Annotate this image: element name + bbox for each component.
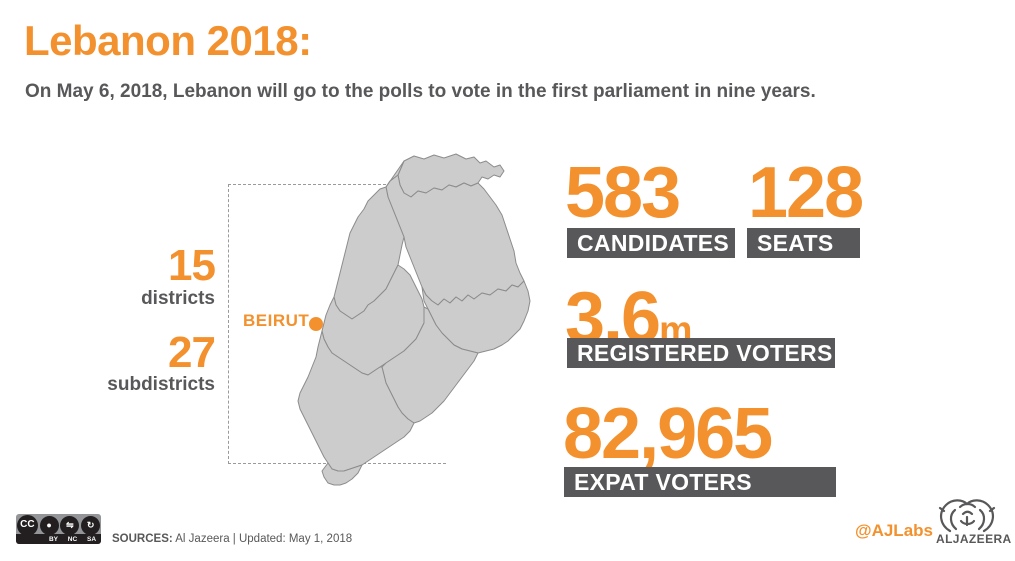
registered-voters-label: REGISTERED VOTERS — [567, 338, 835, 368]
seats-label: SEATS — [747, 228, 860, 258]
candidates-label: CANDIDATES — [567, 228, 735, 258]
expat-voters-label: EXPAT VOTERS — [564, 467, 836, 497]
subdistricts-label: subdistricts — [60, 375, 215, 396]
page-subtitle: On May 6, 2018, Lebanon will go to the p… — [25, 82, 816, 103]
beirut-marker-icon — [309, 317, 323, 331]
cc-label-row: BY NC SA — [16, 534, 101, 544]
cc-nc-icon: ⇋ — [60, 516, 79, 535]
cc-nc-label: NC — [63, 536, 82, 543]
beirut-label: BEIRUT — [243, 311, 309, 331]
sources-line: SOURCES: Al Jazeera | Updated: May 1, 20… — [112, 533, 352, 545]
cc-by-icon: ● — [40, 516, 59, 535]
page-title: Lebanon 2018: — [24, 20, 312, 62]
creative-commons-badge-icon[interactable]: CC ● ⇋ ↻ BY NC SA — [16, 514, 101, 544]
cc-by-label: BY — [44, 536, 63, 543]
cc-sa-label: SA — [82, 536, 101, 543]
sources-text: Al Jazeera | Updated: May 1, 2018 — [175, 533, 352, 545]
subdistricts-count: 27 — [60, 332, 215, 374]
expat-voters-value: 82,965 — [563, 398, 771, 470]
district-counts: 15 districts 27 subdistricts — [60, 245, 215, 396]
seats-value: 128 — [748, 157, 862, 229]
candidates-value: 583 — [565, 157, 679, 229]
cc-logo-icon: CC — [17, 515, 38, 536]
sources-label: SOURCES: — [112, 533, 173, 545]
cc-icon-row: CC ● ⇋ ↻ — [16, 514, 101, 536]
aljazeera-wordmark: ALJAZEERA — [936, 532, 1012, 546]
districts-count: 15 — [60, 245, 215, 287]
cc-sa-icon: ↻ — [81, 516, 100, 535]
ajlabs-handle[interactable]: @AJLabs — [855, 521, 933, 541]
districts-label: districts — [60, 289, 215, 310]
